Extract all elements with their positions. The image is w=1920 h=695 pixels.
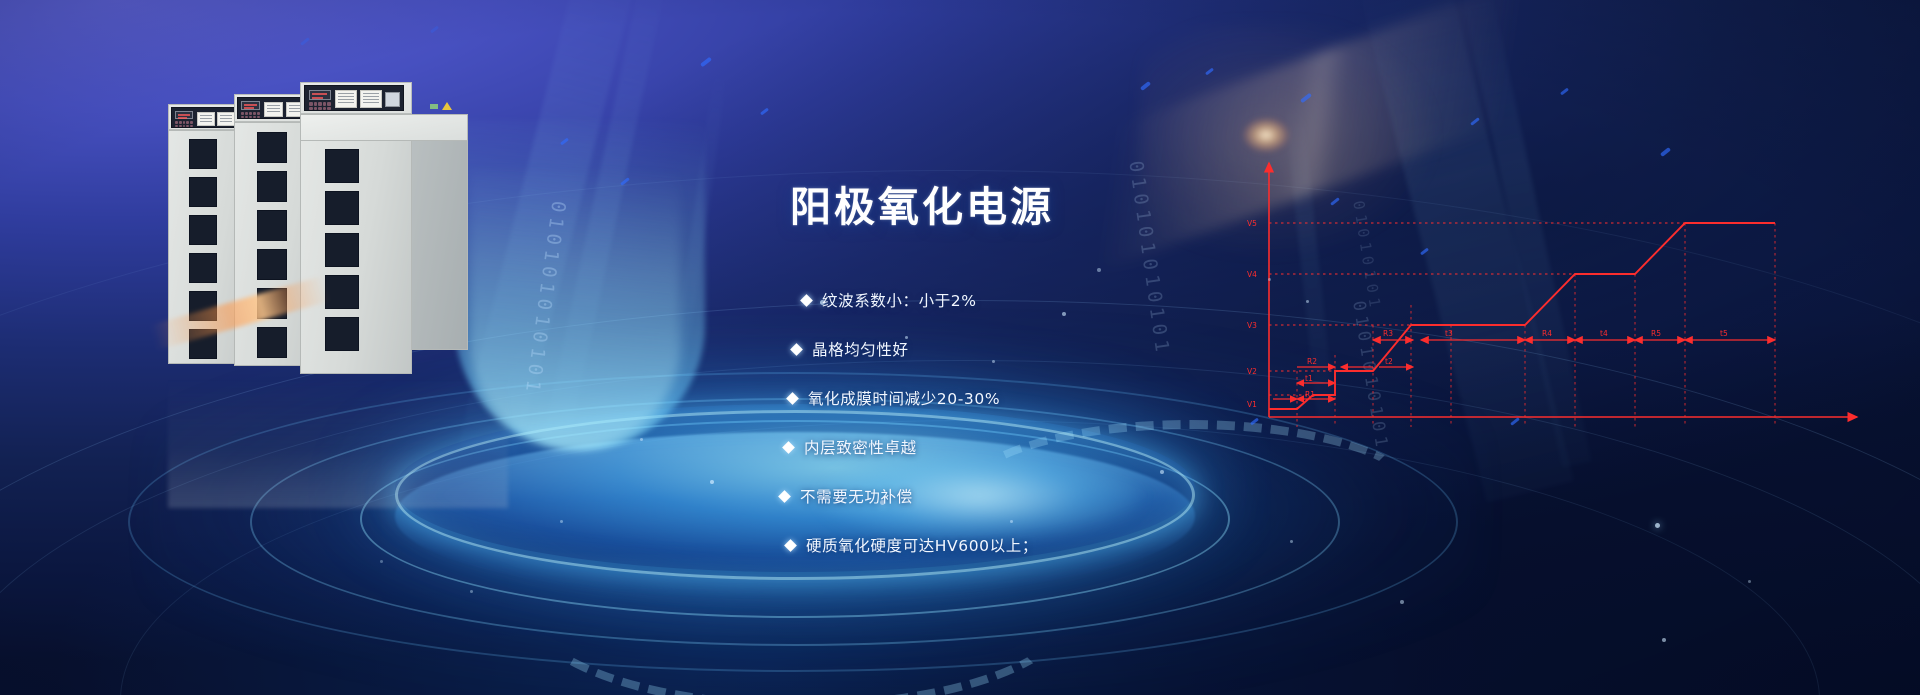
diamond-bullet-icon xyxy=(784,539,797,552)
product-banner: 010101010101 010101010101 0101010101 010… xyxy=(0,0,1920,695)
page-title: 阳极氧化电源 xyxy=(790,173,1054,233)
list-item: 内层致密性卓越 xyxy=(784,435,1232,459)
diamond-bullet-icon xyxy=(782,441,795,454)
list-item-label: 硬质氧化硬度可达HV600以上； xyxy=(806,534,1038,556)
diamond-bullet-icon xyxy=(778,490,791,503)
diamond-bullet-icon xyxy=(790,343,803,356)
list-item-label: 纹波系数小：小于2% xyxy=(822,289,977,311)
list-item: 硬质氧化硬度可达HV600以上； xyxy=(786,533,1232,557)
diamond-bullet-icon xyxy=(786,392,799,405)
feature-list: 纹波系数小：小于2% 晶格均匀性好 氧化成膜时间减少20-30% 内层致密性卓越… xyxy=(792,288,1232,582)
diamond-bullet-icon xyxy=(800,294,813,307)
list-item-label: 不需要无功补偿 xyxy=(800,485,913,507)
list-item-label: 氧化成膜时间减少20-30% xyxy=(808,387,1000,409)
list-item: 不需要无功补偿 xyxy=(780,484,1232,508)
list-item: 晶格均匀性好 xyxy=(792,337,1232,361)
list-item-label: 晶格均匀性好 xyxy=(812,338,909,360)
list-item-label: 内层致密性卓越 xyxy=(804,436,917,458)
list-item: 纹波系数小：小于2% xyxy=(802,288,1232,312)
list-item: 氧化成膜时间减少20-30% xyxy=(788,386,1232,410)
